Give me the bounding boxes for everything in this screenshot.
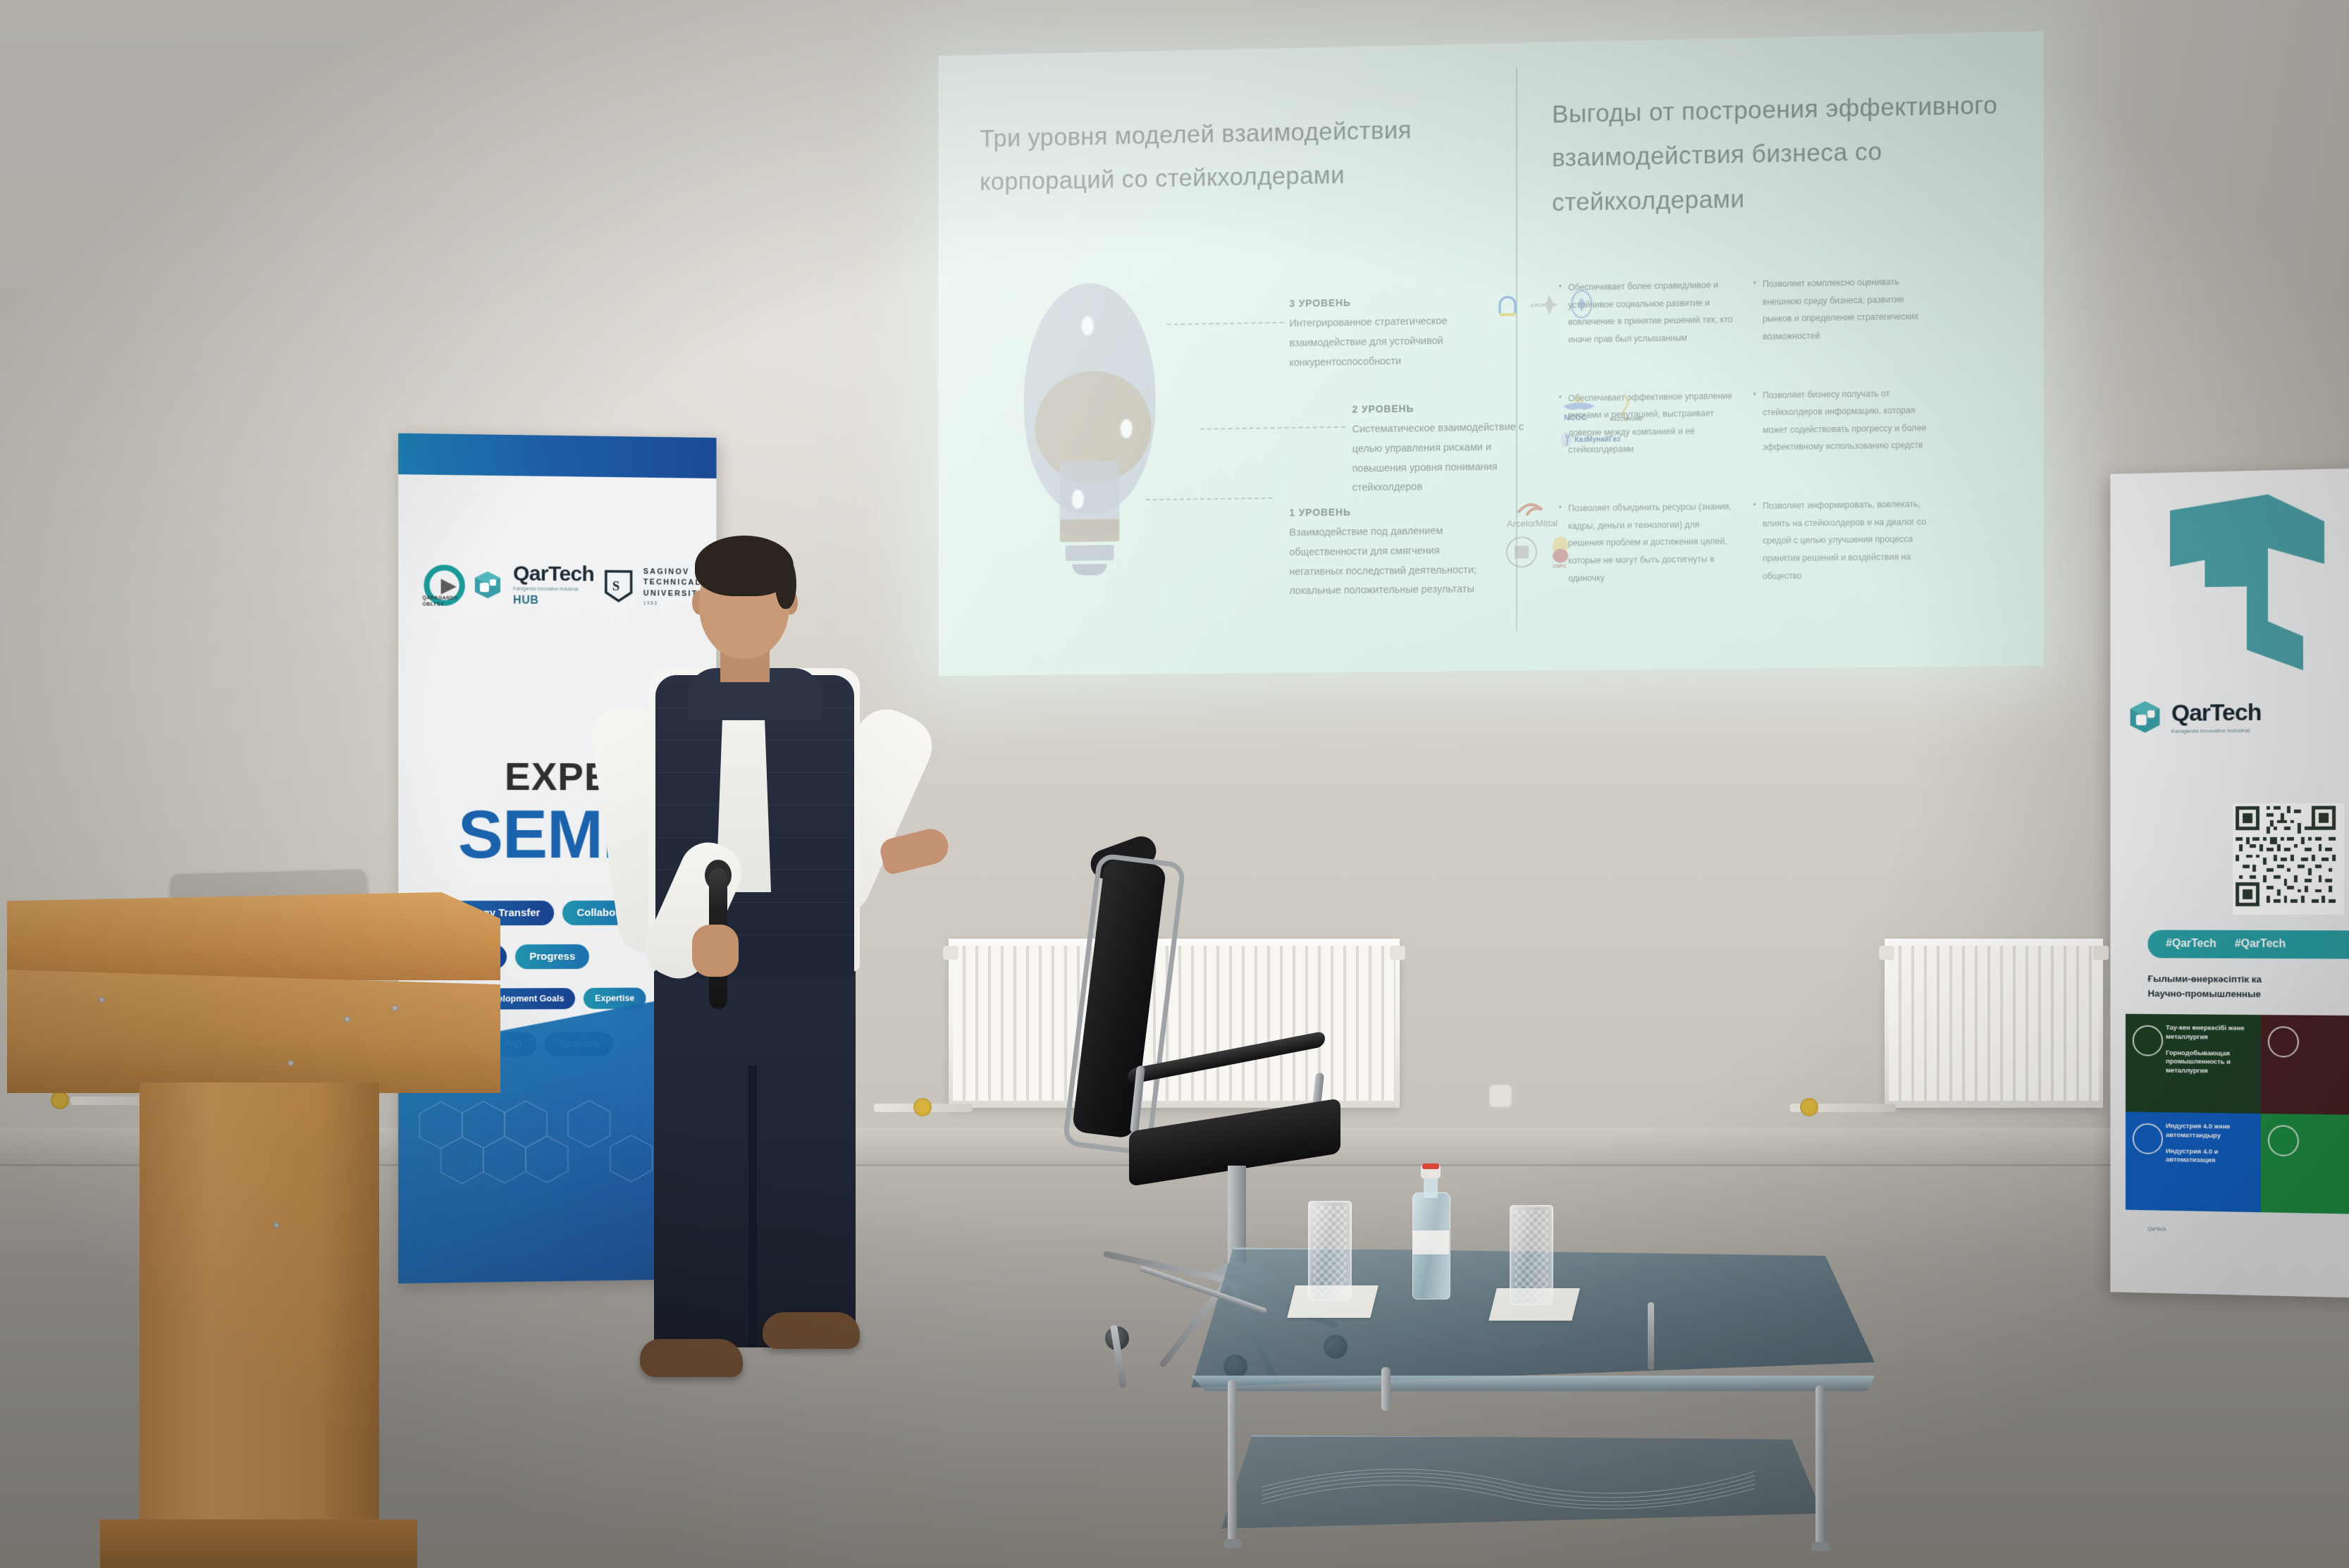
glass-coffee-table xyxy=(1170,1247,1875,1550)
slide-heading-right: Выгоды от построения эффективного взаимо… xyxy=(1552,83,2008,225)
shoe-left xyxy=(640,1339,743,1377)
table-foot xyxy=(1811,1542,1830,1551)
table-wave-graphic xyxy=(1262,1453,1755,1521)
leader-line-level-1 xyxy=(1146,498,1273,500)
podium-screw xyxy=(99,996,105,1003)
svg-text:ArcelorMittal: ArcelorMittal xyxy=(1507,518,1558,529)
tile-mining-metallurgy: Тау-кен өнеркәсібі және металлургия Горн… xyxy=(2126,1014,2261,1114)
industry-tiles: Тау-кен өнеркәсібі және металлургия Горн… xyxy=(2126,1014,2349,1215)
crystal-glass-right xyxy=(1510,1205,1553,1305)
podium-front-panel xyxy=(7,970,500,1093)
chip-icon xyxy=(2133,1123,2163,1154)
tile-industry-secondary xyxy=(2261,1015,2349,1116)
benefit-item: ▪Обеспечивает более справедливое и устой… xyxy=(1559,276,1735,349)
slide-benefits: ▪Обеспечивает более справедливое и устой… xyxy=(1559,273,1930,628)
podium-top xyxy=(7,892,500,980)
speaker-hand-holding-mic xyxy=(692,925,739,977)
hashtag-1: #QarTech xyxy=(2166,938,2217,951)
wooden-podium xyxy=(7,871,522,1568)
qaragandy-oblysy-logo: QARAGANDY OBLYSY xyxy=(422,564,462,605)
water-bottle xyxy=(1412,1164,1449,1298)
banner-caption: Ғылыми-өнеркәсіптік ка Научно-промышленн… xyxy=(2147,972,2262,1002)
benefit-item: ▪Позволяет бизнесу получать от стейкхолд… xyxy=(1753,384,1931,457)
projected-slide: Три уровня моделей взаимодействия корпор… xyxy=(939,31,2044,676)
benefits-column-1: ▪Обеспечивает более справедливое и устой… xyxy=(1559,276,1735,628)
table-top-edge xyxy=(1170,1376,1875,1391)
qartech-rollup-banner: QarTech Karaganda Innovative Industrial xyxy=(2110,467,2349,1298)
leader-line-level-2 xyxy=(1200,426,1345,430)
podium-screw xyxy=(392,1005,398,1011)
slide-heading-left: Три уровня моделей взаимодействия корпор… xyxy=(980,108,1467,205)
eco-recycle-icon xyxy=(2268,1125,2299,1156)
slide-level-3: 3 УРОВЕНЬ Интегрированное стратегическое… xyxy=(1289,295,1477,374)
podium-base xyxy=(100,1519,417,1568)
kazakhstan-arch-logo xyxy=(1496,293,1519,318)
qartech-q-logo xyxy=(2128,479,2338,693)
erg-logo: ERG xyxy=(1531,292,1559,317)
crystal-glass-left xyxy=(1308,1201,1352,1301)
tile-industry-4-0: Индустрия 4.0 және автоматтандыру Индуст… xyxy=(2126,1112,2261,1213)
table-leg xyxy=(1381,1367,1391,1411)
qartech-cube-icon xyxy=(2127,698,2163,739)
benefit-item: ▪Обеспечивает эффективное управление рис… xyxy=(1559,387,1735,459)
slide-level-1: 1 УРОВЕНЬ Взаимодействие под давлением о… xyxy=(1289,505,1493,602)
hashtag-bar: #QarTech #QarTech xyxy=(2147,930,2349,959)
table-leg xyxy=(1815,1385,1825,1545)
presentation-room-photo: Три уровня моделей взаимодействия корпор… xyxy=(0,0,2349,1568)
podium-screw xyxy=(273,1222,280,1228)
banner-footer: QarTech xyxy=(2147,1226,2166,1234)
radiator-valve-right xyxy=(1800,1098,1818,1116)
table-leg xyxy=(1228,1380,1237,1542)
circular-seal-logo xyxy=(1505,536,1538,569)
radiator-right xyxy=(1885,939,2103,1108)
banner-top-bar xyxy=(398,433,716,479)
benefit-item: ▪Позволяет комплексно оценивать внешнюю … xyxy=(1753,273,1931,345)
caption-russian: Научно-промышленные xyxy=(2147,987,2262,1002)
slide-level-2: 2 УРОВЕНЬ Систематическое взаимодействие… xyxy=(1352,401,1548,499)
trouser-seam xyxy=(748,1066,757,1347)
podium-screw xyxy=(344,1016,350,1023)
qartech-subtitle: Karaganda Innovative Industrial xyxy=(2171,727,2261,736)
qartech-brand-row: QarTech Karaganda Innovative Industrial xyxy=(2127,698,2261,739)
speaker-person xyxy=(543,530,937,1439)
podium-screw xyxy=(288,1060,294,1066)
benefit-item: ▪Позволяет объединить ресурсы (знания, к… xyxy=(1559,498,1735,588)
benefits-column-2: ▪Позволяет комплексно оценивать внешнюю … xyxy=(1753,273,1931,626)
table-foot xyxy=(1223,1539,1242,1548)
svg-text:ERG: ERG xyxy=(1531,302,1543,309)
caption-kazakh: Ғылыми-өнеркәсіптік ка xyxy=(2147,972,2262,987)
tile-ecology xyxy=(2261,1113,2349,1215)
factory-icon xyxy=(2268,1026,2299,1057)
wall-socket xyxy=(1488,1084,1512,1108)
stand-post-right xyxy=(1648,1302,1654,1370)
shoe-right xyxy=(763,1312,860,1349)
benefit-item: ▪Позволяет информировать, вовлекать, вли… xyxy=(1753,495,1931,585)
mining-cart-icon xyxy=(2133,1025,2163,1056)
qartech-wordmark: QarTech xyxy=(2171,700,2261,725)
qartech-cube-icon xyxy=(472,569,503,601)
podium-column xyxy=(140,1082,379,1533)
qr-code-icon xyxy=(2233,803,2344,915)
lightbulb-icon xyxy=(1024,282,1156,577)
leader-line-level-3 xyxy=(1166,322,1283,326)
hashtag-2: #QarTech xyxy=(2235,938,2286,951)
chair-back-frame xyxy=(1062,853,1186,1156)
